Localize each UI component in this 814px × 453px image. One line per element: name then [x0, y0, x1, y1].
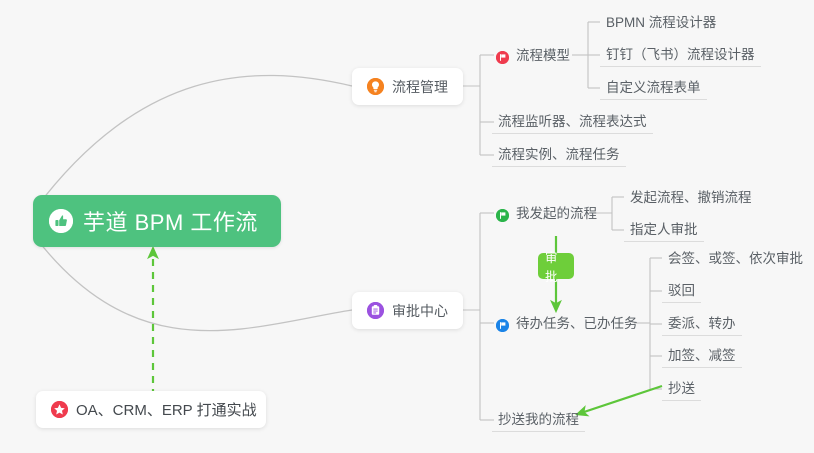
- clipboard-icon: [367, 302, 384, 319]
- leaf-label-start-cancel-process: 发起流程、撤销流程: [630, 191, 752, 206]
- node-cc-my-process[interactable]: 抄送我的流程: [492, 407, 585, 432]
- leaf-dingtalk-designer[interactable]: 钉钉（飞书）流程设计器: [600, 42, 761, 67]
- leaf-delegate-transfer[interactable]: 委派、转办: [662, 311, 742, 336]
- node-process-instance[interactable]: 流程实例、流程任务: [492, 142, 626, 167]
- leaf-custom-form[interactable]: 自定义流程表单: [600, 75, 707, 100]
- star-icon: [51, 401, 68, 418]
- leaf-multi-sign[interactable]: 会签、或签、依次审批: [662, 245, 809, 270]
- node-label-cc-my-process: 抄送我的流程: [498, 413, 579, 428]
- mindmap-canvas: 芋道 BPM 工作流 OA、CRM、ERP 打通实战 流程管理: [0, 0, 814, 453]
- branch-node-approval-center[interactable]: 审批中心: [352, 292, 463, 329]
- branch-node-process-management[interactable]: 流程管理: [352, 68, 463, 105]
- node-label-todo-done-tasks: 待办任务、已办任务: [516, 317, 638, 332]
- leaf-label-bpmn-designer: BPMN 流程设计器: [606, 16, 716, 31]
- connector-root-to-approval-center: [36, 238, 352, 331]
- node-label-my-started-process: 我发起的流程: [516, 207, 597, 222]
- flag-blue-icon: [496, 319, 509, 332]
- connector-root-to-process-management: [36, 75, 352, 208]
- root-label: 芋道 BPM 工作流: [83, 205, 258, 237]
- node-process-listener[interactable]: 流程监听器、流程表达式: [492, 109, 653, 134]
- leaf-label-delegate-transfer: 委派、转办: [668, 317, 736, 332]
- annotation-pill-approval: 审批: [538, 253, 574, 279]
- flag-green-icon: [496, 209, 509, 222]
- root-node[interactable]: 芋道 BPM 工作流: [33, 195, 281, 247]
- leaf-label-dingtalk-designer: 钉钉（飞书）流程设计器: [606, 48, 755, 63]
- floating-node-label: OA、CRM、ERP 打通实战: [76, 399, 257, 420]
- leaf-label-custom-form: 自定义流程表单: [606, 81, 701, 96]
- node-label-process-listener: 流程监听器、流程表达式: [498, 115, 647, 130]
- leaf-label-multi-sign: 会签、或签、依次审批: [668, 252, 803, 267]
- leaf-bpmn-designer[interactable]: BPMN 流程设计器: [600, 9, 722, 34]
- leaf-start-cancel-process[interactable]: 发起流程、撤销流程: [624, 184, 758, 209]
- leaf-assignee-approval[interactable]: 指定人审批: [624, 217, 704, 242]
- flag-red-icon: [496, 51, 509, 64]
- branch-label-process-management: 流程管理: [392, 77, 448, 97]
- leaf-label-reject: 驳回: [668, 284, 695, 299]
- node-process-model[interactable]: 流程模型: [490, 42, 576, 67]
- node-todo-done-tasks[interactable]: 待办任务、已办任务: [490, 310, 644, 335]
- annotation-pill-label: 审批: [545, 247, 567, 285]
- node-my-started-process[interactable]: 我发起的流程: [490, 200, 603, 225]
- leaf-reject[interactable]: 驳回: [662, 278, 701, 303]
- branch-label-approval-center: 审批中心: [392, 301, 448, 321]
- leaf-add-remove-sign[interactable]: 加签、减签: [662, 343, 742, 368]
- lightbulb-icon: [367, 78, 384, 95]
- node-label-process-instance: 流程实例、流程任务: [498, 148, 620, 163]
- leaf-cc[interactable]: 抄送: [662, 376, 701, 401]
- leaf-label-assignee-approval: 指定人审批: [630, 223, 698, 238]
- arrow-cc-to-ccmine: [578, 386, 662, 414]
- leaf-label-cc: 抄送: [668, 382, 695, 397]
- floating-node-integration[interactable]: OA、CRM、ERP 打通实战: [36, 391, 266, 428]
- leaf-label-add-remove-sign: 加签、减签: [668, 349, 736, 364]
- thumbs-up-icon: [49, 209, 73, 233]
- node-label-process-model: 流程模型: [516, 49, 570, 64]
